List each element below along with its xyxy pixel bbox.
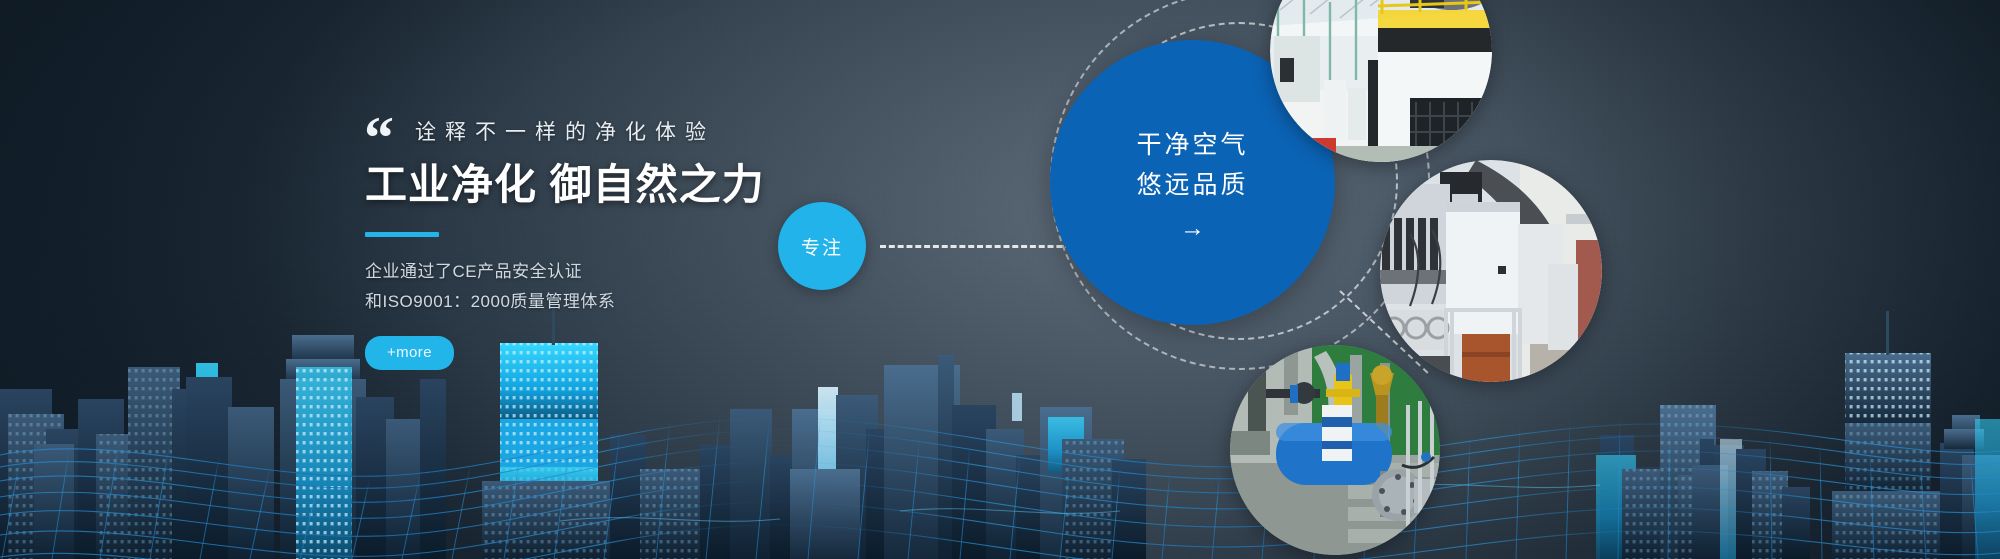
hero-copy-block: “ 诠释不一样的净化体验 工业净化 御自然之力 企业通过了CE产品安全认证 和I…	[365, 120, 885, 370]
dashed-connector-line	[880, 245, 1080, 248]
hero-headline: 工业净化 御自然之力	[365, 160, 885, 210]
hero-description: 企业通过了CE产品安全认证 和ISO9001：2000质量管理体系	[365, 257, 885, 317]
slogan-line-1: 干净空气	[1136, 125, 1248, 165]
hero-description-line-2: 和ISO9001：2000质量管理体系	[365, 287, 885, 317]
hero-banner: 专注 干净空气 悠远品质 →	[0, 0, 2000, 559]
slogan-line-2: 悠远品质	[1136, 165, 1248, 205]
hero-graphic-cluster: 专注 干净空气 悠远品质 →	[760, 0, 2000, 559]
accent-rule-divider	[365, 232, 439, 237]
hero-description-line-1: 企业通过了CE产品安全认证	[365, 257, 885, 287]
quote-mark-icon: “	[364, 108, 392, 168]
arrow-right-icon: →	[1180, 216, 1205, 241]
photo-textile-machinery-hall[interactable]	[1380, 160, 1602, 382]
hero-subtitle: 诠释不一样的净化体验	[415, 120, 885, 146]
photo-pipeline-valve-equipment[interactable]	[1230, 345, 1440, 555]
more-button[interactable]: +more	[365, 336, 454, 370]
